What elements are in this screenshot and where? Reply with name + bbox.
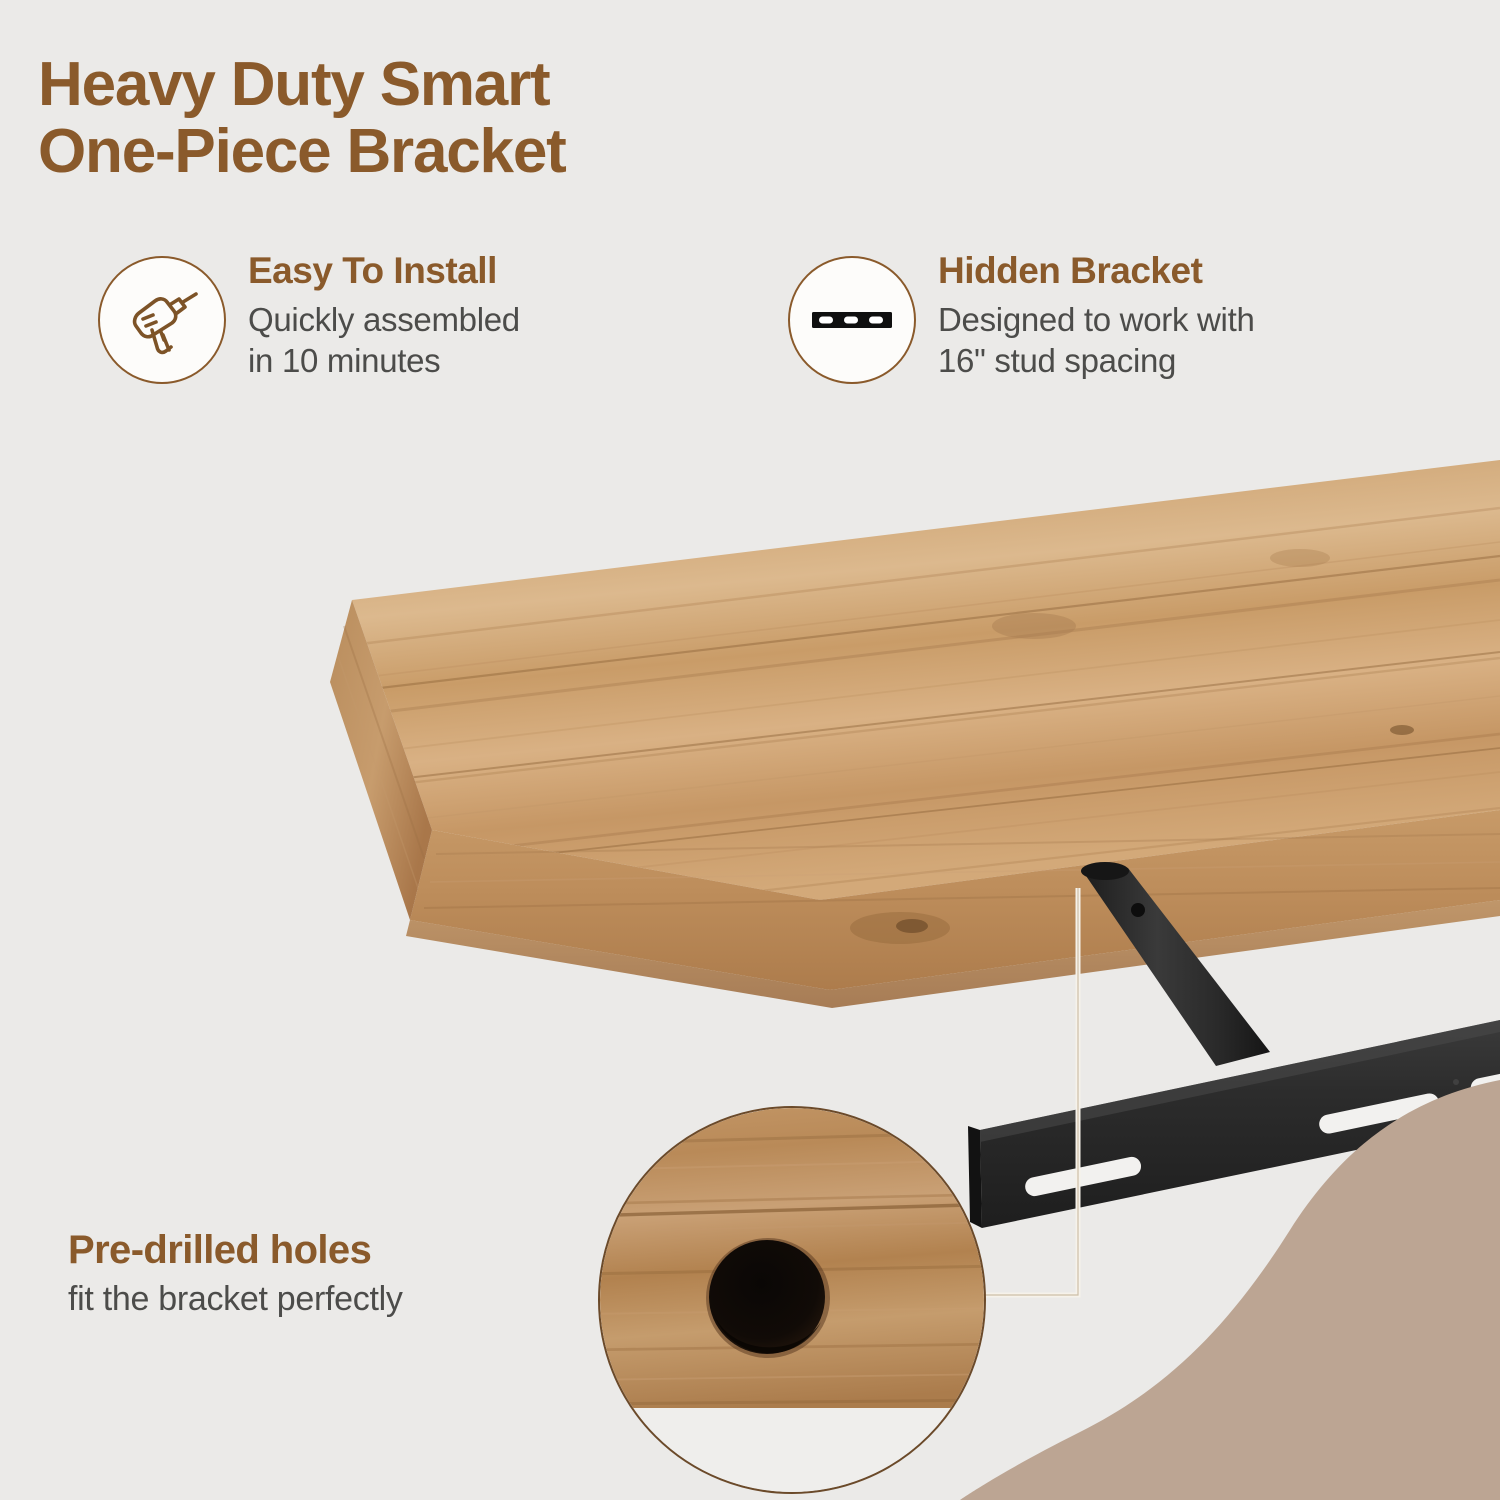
page-title: Heavy Duty Smart One-Piece Bracket <box>38 52 938 186</box>
callout-description: fit the bracket perfectly <box>68 1280 588 1319</box>
feature-title: Hidden Bracket <box>938 250 1255 293</box>
feature-easy-to-install: Easy To Install Quickly assembled in 10 … <box>98 248 520 384</box>
feature-icon-badge <box>788 256 916 384</box>
feature-title: Easy To Install <box>248 250 520 293</box>
magnified-hole-detail <box>598 1106 986 1494</box>
feature-text: Hidden Bracket Designed to work with 16"… <box>938 248 1255 381</box>
feature-description: Quickly assembled in 10 minutes <box>248 299 520 382</box>
feature-description: Designed to work with 16" stud spacing <box>938 299 1255 382</box>
rod-screw-hole <box>1131 903 1145 917</box>
infographic-canvas: Heavy Duty Smart One-Piece Bracket <box>0 0 1500 1500</box>
drill-icon <box>119 277 205 363</box>
callout-title: Pre-drilled holes <box>68 1228 588 1272</box>
pre-drilled-holes-callout: Pre-drilled holes fit the bracket perfec… <box>68 1228 588 1319</box>
drilled-hole <box>706 1238 830 1358</box>
feature-icon-badge <box>98 256 226 384</box>
feature-text: Easy To Install Quickly assembled in 10 … <box>248 248 520 381</box>
magnified-hole-illustration <box>600 1108 984 1492</box>
feature-hidden-bracket: Hidden Bracket Designed to work with 16"… <box>788 248 1255 384</box>
feature-row: Easy To Install Quickly assembled in 10 … <box>0 248 1500 428</box>
bracket-bar-icon <box>806 274 898 366</box>
